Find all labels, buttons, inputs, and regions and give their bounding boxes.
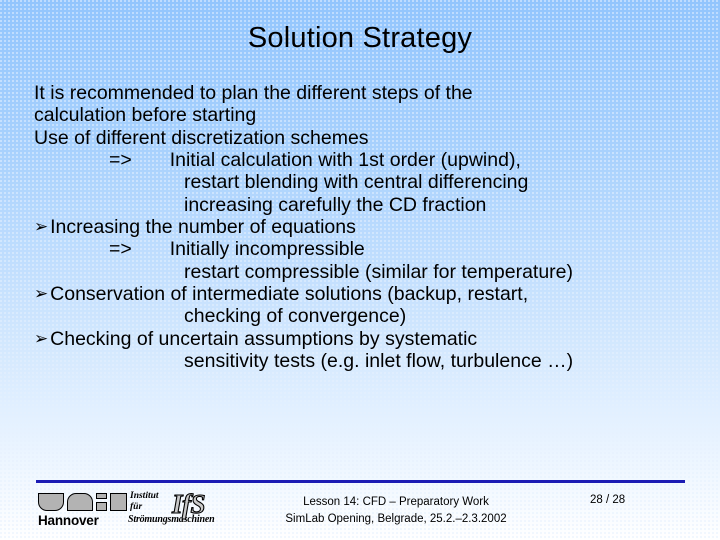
slide-body: It is recommended to plan the different … [34, 82, 700, 372]
slide-footer: Hannover Institut für Strömungsmaschinen… [0, 488, 720, 536]
body-line: calculation before starting [34, 104, 700, 126]
slide-content: Solution Strategy It is recommended to p… [0, 0, 720, 540]
body-line: => Initial calculation with 1st order (u… [34, 149, 700, 171]
ifs-wordmark: IfS [172, 491, 205, 518]
body-line-text: => Initially incompressible [109, 238, 365, 260]
body-line-text: checking of convergence) [184, 305, 406, 327]
footer-event-line: SimLab Opening, Belgrade, 25.2.–2.3.2002 [248, 511, 544, 528]
logo-block-n [67, 493, 93, 511]
body-line-text: restart blending with central differenci… [184, 171, 528, 193]
body-line: restart blending with central differenci… [34, 171, 700, 193]
body-line: ➢Conservation of intermediate solutions … [34, 283, 700, 305]
slide-title: Solution Strategy [0, 22, 720, 55]
logo-block-i-stem [96, 502, 107, 511]
body-line-text: It is recommended to plan the different … [34, 82, 473, 104]
body-line-text: restart compressible (similar for temper… [184, 261, 573, 283]
arrow-bullet-icon: ➢ [34, 218, 50, 237]
arrow-bullet-icon: ➢ [34, 285, 50, 304]
uni-hannover-logo: Hannover [38, 491, 130, 531]
footer-center-text: Lesson 14: CFD – Preparatory Work SimLab… [248, 494, 544, 527]
uni-hannover-label: Hannover [38, 513, 99, 528]
footer-divider-rule [36, 480, 685, 483]
body-line-text: Conservation of intermediate solutions (… [50, 283, 528, 305]
footer-lesson-line: Lesson 14: CFD – Preparatory Work [248, 494, 544, 511]
body-line: checking of convergence) [34, 305, 700, 327]
body-line: Use of different discretization schemes [34, 127, 700, 149]
body-line: ➢Increasing the number of equations [34, 216, 700, 238]
logo-block-i-dot [96, 493, 107, 499]
ifs-line-institut: Institut [130, 491, 159, 501]
body-line-text: Checking of uncertain assumptions by sys… [50, 328, 477, 350]
body-line: ➢Checking of uncertain assumptions by sy… [34, 328, 700, 350]
logo-block-u [38, 493, 64, 511]
body-line-text: Use of different discretization schemes [34, 127, 369, 149]
slide-canvas: Solution Strategy It is recommended to p… [0, 0, 720, 540]
body-line-text: increasing carefully the CD fraction [184, 194, 486, 216]
body-line: It is recommended to plan the different … [34, 82, 700, 104]
body-line: restart compressible (similar for temper… [34, 261, 700, 283]
body-line-text: sensitivity tests (e.g. inlet flow, turb… [184, 350, 573, 372]
body-line-text: Increasing the number of equations [50, 216, 356, 238]
logo-block-bar [110, 493, 127, 511]
body-line-text: calculation before starting [34, 104, 256, 126]
arrow-bullet-icon: ➢ [34, 330, 50, 349]
body-line: => Initially incompressible [34, 238, 700, 260]
footer-page-number: 28 / 28 [590, 494, 680, 506]
body-line: increasing carefully the CD fraction [34, 194, 700, 216]
body-line: sensitivity tests (e.g. inlet flow, turb… [34, 350, 700, 372]
uni-wordmark-blocks [38, 491, 128, 511]
ifs-institute-logo: Institut für Strömungsmaschinen IfS [128, 490, 236, 532]
ifs-line-fuer: für [130, 502, 142, 512]
body-line-text: => Initial calculation with 1st order (u… [109, 149, 521, 171]
